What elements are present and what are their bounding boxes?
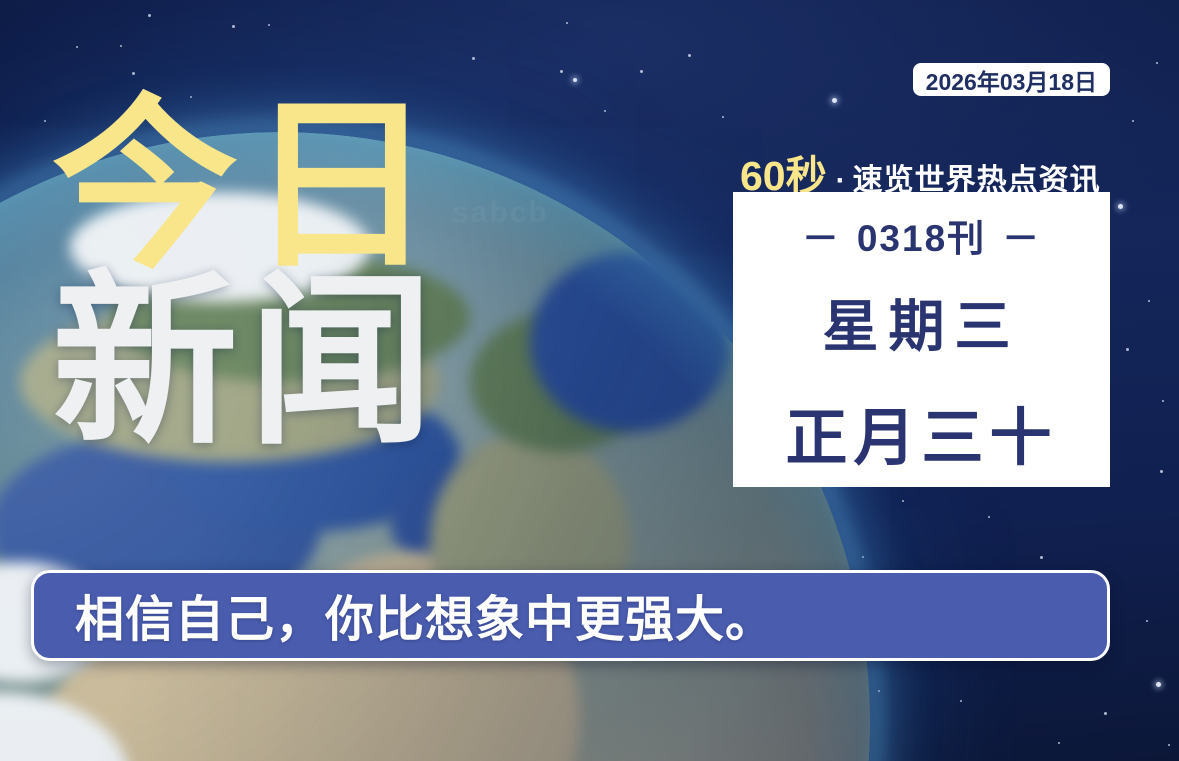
issue-row: － 0318刊 － [802,208,1041,262]
weekday: 星期三 [823,282,1021,363]
page-title-line2: 新闻 [52,272,444,454]
news-poster: sabcb 今日 新闻 2026年03月18日 60秒 · 速览世界热点资讯 －… [0,0,1179,761]
issue-number: 0318刊 [857,208,986,262]
page-title-line1: 今日 [52,96,444,278]
issue-dash-left: － [802,208,841,262]
date-badge: 2026年03月18日 [913,63,1110,96]
page-title: 今日 新闻 [52,96,444,455]
quote-banner: 相信自己，你比想象中更强大。 [31,570,1110,661]
quote-text: 相信自己，你比想象中更强大。 [75,580,775,651]
lunar-date: 正月三十 [785,387,1057,477]
issue-dash-right: － [1002,208,1041,262]
info-card: － 0318刊 － 星期三 正月三十 [733,192,1110,487]
